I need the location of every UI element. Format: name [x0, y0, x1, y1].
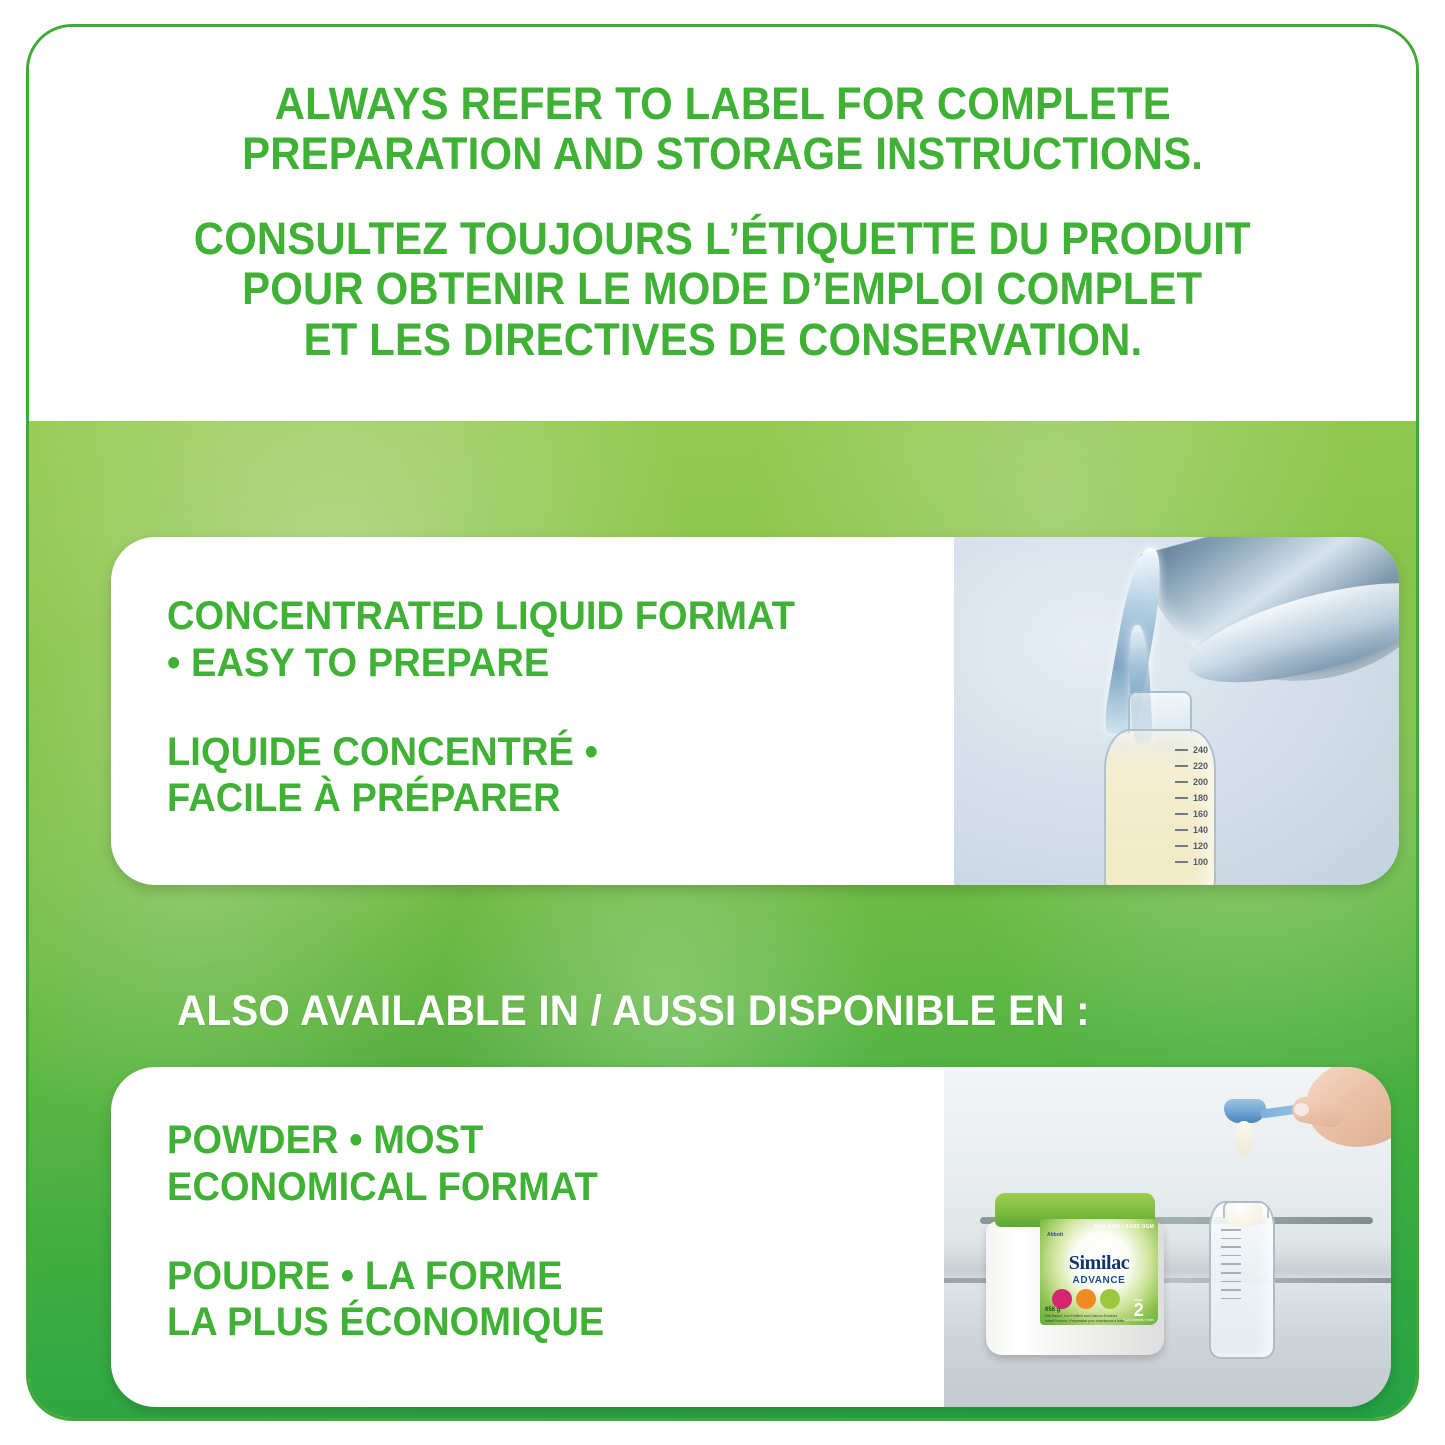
label-stage-number: 2: [1123, 1302, 1154, 1318]
tick-line: [1221, 1229, 1241, 1231]
label-fine-print: Milk-Based, Iron-Fortified and Calcium-E…: [1045, 1314, 1126, 1325]
header-english-line-1: ALWAYS REFER TO LABEL FOR COMPLETE: [274, 79, 1170, 129]
card-powder-text: POWDER • MOST ECONOMICAL FORMAT POUDRE •…: [111, 1067, 944, 1407]
tick-line: [1221, 1263, 1241, 1265]
card-concentrated-liquid: CONCENTRATED LIQUID FORMAT • EASY TO PRE…: [111, 537, 1399, 885]
liquid-photo: 240 220 200 180 160 140 120 100: [954, 537, 1399, 885]
liquid-english-line-1: CONCENTRATED LIQUID FORMAT: [167, 593, 901, 640]
gradation-label: 240: [1193, 745, 1208, 755]
gradation-label: 180: [1193, 793, 1208, 803]
powder-bottle-gradations: [1221, 1229, 1241, 1299]
promo-poster: ALWAYS REFER TO LABEL FOR COMPLETE PREPA…: [26, 24, 1419, 1421]
card-powder: POWDER • MOST ECONOMICAL FORMAT POUDRE •…: [111, 1067, 1391, 1407]
baby-bottle-icon: 240 220 200 180 160 140 120 100: [1104, 691, 1216, 885]
powder-pile: [1225, 1201, 1263, 1227]
tick-line: [1175, 797, 1188, 799]
gradation-mark: 240: [1175, 745, 1208, 755]
tick-line: [1221, 1246, 1241, 1248]
liquid-english-line-2: • EASY TO PREPARE: [167, 640, 901, 687]
label-weight: 658 g: [1045, 1307, 1060, 1313]
powder-photo: NON-GMO / SANS OGM Abbott Similac ADVANC…: [944, 1067, 1391, 1407]
gradation-mark: 140: [1175, 825, 1208, 835]
similac-can-icon: NON-GMO / SANS OGM Abbott Similac ADVANC…: [986, 1193, 1164, 1355]
gradation-mark: 220: [1175, 761, 1208, 771]
powder-english-line-2: ECONOMICAL FORMAT: [167, 1164, 892, 1211]
water-jug-icon: [1140, 537, 1399, 717]
bottle-body: 240 220 200 180 160 140 120 100: [1104, 729, 1216, 885]
tick-line: [1221, 1255, 1241, 1257]
falling-powder: [1236, 1121, 1252, 1157]
gradation-label: 220: [1193, 761, 1208, 771]
benefit-dot-orange: [1076, 1289, 1096, 1309]
powder-baby-bottle-icon: [1209, 1201, 1275, 1359]
header-english-line-2: PREPARATION AND STORAGE INSTRUCTIONS.: [242, 129, 1203, 179]
liquid-french-line-2: FACILE À PRÉPARER: [167, 775, 901, 822]
label-stage: stage 2 6-24 months / mois: [1123, 1298, 1154, 1322]
gradation-mark: 160: [1175, 809, 1208, 819]
tick-line: [1221, 1272, 1241, 1274]
label-non-gmo: NON-GMO / SANS OGM: [1094, 1224, 1154, 1230]
also-available-label: ALSO AVAILABLE IN / AUSSI DISPONIBLE EN …: [177, 987, 1090, 1036]
gradation-label: 140: [1193, 825, 1208, 835]
tick-line: [1175, 781, 1188, 783]
can-label: NON-GMO / SANS OGM Abbott Similac ADVANC…: [1040, 1219, 1158, 1325]
gradation-label: 100: [1193, 857, 1208, 867]
header-block: ALWAYS REFER TO LABEL FOR COMPLETE PREPA…: [29, 27, 1416, 421]
card-concentrated-liquid-text: CONCENTRATED LIQUID FORMAT • EASY TO PRE…: [111, 537, 954, 885]
tick-line: [1175, 845, 1188, 847]
tick-line: [1221, 1298, 1241, 1300]
header-french-line-2: POUR OBTENIR LE MODE D’EMPLOI COMPLET: [242, 264, 1202, 314]
tick-line: [1175, 861, 1188, 863]
tick-line: [1175, 749, 1188, 751]
benefit-dot-pink: [1052, 1289, 1072, 1309]
tick-line: [1221, 1289, 1241, 1291]
tick-line: [1221, 1238, 1241, 1240]
gradation-mark: 120: [1175, 841, 1208, 851]
gradation-mark: 200: [1175, 777, 1208, 787]
bottle-neck: [1128, 691, 1192, 733]
gradation-mark: 100: [1175, 857, 1208, 867]
powder-french-line-2: LA PLUS ÉCONOMIQUE: [167, 1299, 892, 1346]
liquid-text-spacer: [167, 687, 940, 729]
water-pour-scene: 240 220 200 180 160 140 120 100: [954, 537, 1399, 885]
label-sub-brand: ADVANCE: [1040, 1275, 1158, 1286]
gradation-label: 200: [1193, 777, 1208, 787]
tick-line: [1175, 829, 1188, 831]
gradation-mark: 180: [1175, 793, 1208, 803]
powder-english-line-1: POWDER • MOST: [167, 1117, 892, 1164]
tick-line: [1221, 1281, 1241, 1283]
hand-icon: [1292, 1067, 1391, 1173]
powder-french-line-1: POUDRE • LA FORME: [167, 1253, 892, 1300]
label-brand: Similac: [1040, 1253, 1158, 1273]
label-company: Abbott: [1047, 1232, 1063, 1238]
label-benefit-dots: [1052, 1289, 1120, 1309]
tick-line: [1175, 765, 1188, 767]
tick-line: [1175, 813, 1188, 815]
label-stage-age: 6-24 months / mois: [1123, 1318, 1154, 1322]
gradation-label: 120: [1193, 841, 1208, 851]
header-french-line-3: ET LES DIRECTIVES DE CONSERVATION.: [303, 315, 1142, 365]
liquid-french-line-1: LIQUIDE CONCENTRÉ •: [167, 729, 901, 776]
benefit-dot-green: [1100, 1289, 1120, 1309]
header-french-line-1: CONSULTEZ TOUJOURS L’ÉTIQUETTE DU PRODUI…: [194, 214, 1251, 264]
powder-scoop-scene: NON-GMO / SANS OGM Abbott Similac ADVANC…: [944, 1067, 1391, 1407]
bottle-gradation-scale: 240 220 200 180 160 140 120 100: [1175, 745, 1208, 867]
powder-text-spacer: [167, 1211, 930, 1253]
hand-nail: [1294, 1103, 1309, 1116]
gradation-label: 160: [1193, 809, 1208, 819]
